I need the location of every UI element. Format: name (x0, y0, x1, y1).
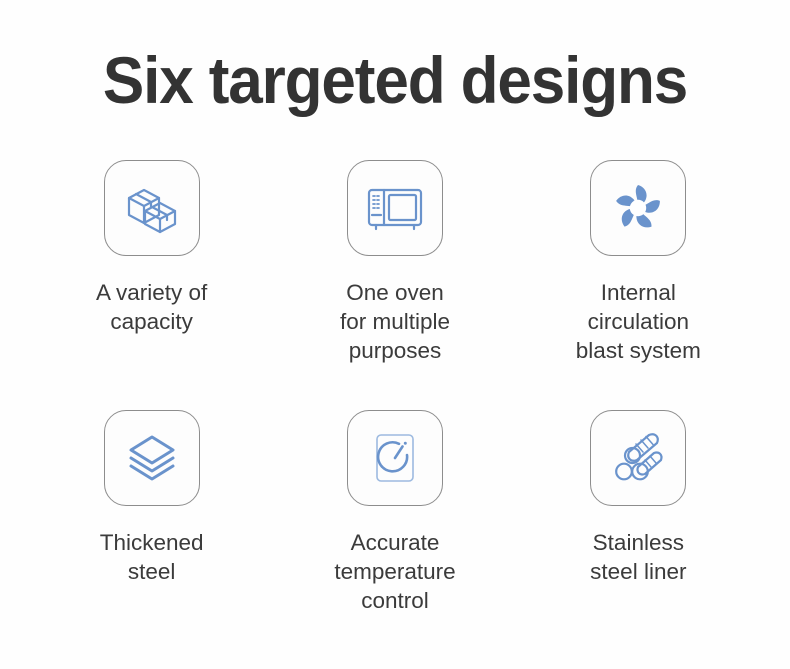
feature-card-accurate-temperature-control[interactable]: Accurate temperature control (273, 410, 516, 660)
caption-line: purposes (340, 336, 450, 365)
icon-box (347, 160, 443, 256)
icon-box (104, 410, 200, 506)
layers-icon (121, 427, 183, 489)
feature-caption: A variety of capacity (96, 278, 207, 336)
caption-line: control (334, 586, 455, 615)
feature-card-internal-circulation-blast-system[interactable]: Internal circulation blast system (517, 160, 760, 410)
icon-box (590, 410, 686, 506)
feature-grid: A variety of capacity (30, 160, 760, 660)
feature-caption: Accurate temperature control (334, 528, 455, 615)
feature-caption: Internal circulation blast system (576, 278, 701, 365)
feature-card-stainless-steel-liner[interactable]: Stainless steel liner (517, 410, 760, 660)
feature-caption: Stainless steel liner (590, 528, 686, 586)
caption-line: steel liner (590, 557, 686, 586)
caption-line: A variety of (96, 278, 207, 307)
caption-line: circulation (576, 307, 701, 336)
caption-line: Internal (576, 278, 701, 307)
feature-card-thickened-steel[interactable]: Thickened steel (30, 410, 273, 660)
caption-line: capacity (96, 307, 207, 336)
caption-line: for multiple (340, 307, 450, 336)
caption-line: Stainless (590, 528, 686, 557)
feature-card-variety-of-capacity[interactable]: A variety of capacity (30, 160, 273, 410)
icon-box (347, 410, 443, 506)
icon-box (104, 160, 200, 256)
caption-line: One oven (340, 278, 450, 307)
feature-caption: One oven for multiple purposes (340, 278, 450, 365)
feature-highlight-page: Six targeted designs (0, 0, 790, 669)
caption-line: temperature (334, 557, 455, 586)
steel-pipes-icon (607, 427, 669, 489)
boxes-icon (121, 177, 183, 239)
caption-line: steel (100, 557, 204, 586)
icon-box (590, 160, 686, 256)
timer-dial-icon (364, 427, 426, 489)
feature-caption: Thickened steel (100, 528, 204, 586)
caption-line: Thickened (100, 528, 204, 557)
caption-line: Accurate (334, 528, 455, 557)
microwave-oven-icon (364, 177, 426, 239)
caption-line: blast system (576, 336, 701, 365)
page-title: Six targeted designs (24, 40, 767, 120)
fan-icon (607, 177, 669, 239)
feature-card-one-oven-multiple-purposes[interactable]: One oven for multiple purposes (273, 160, 516, 410)
